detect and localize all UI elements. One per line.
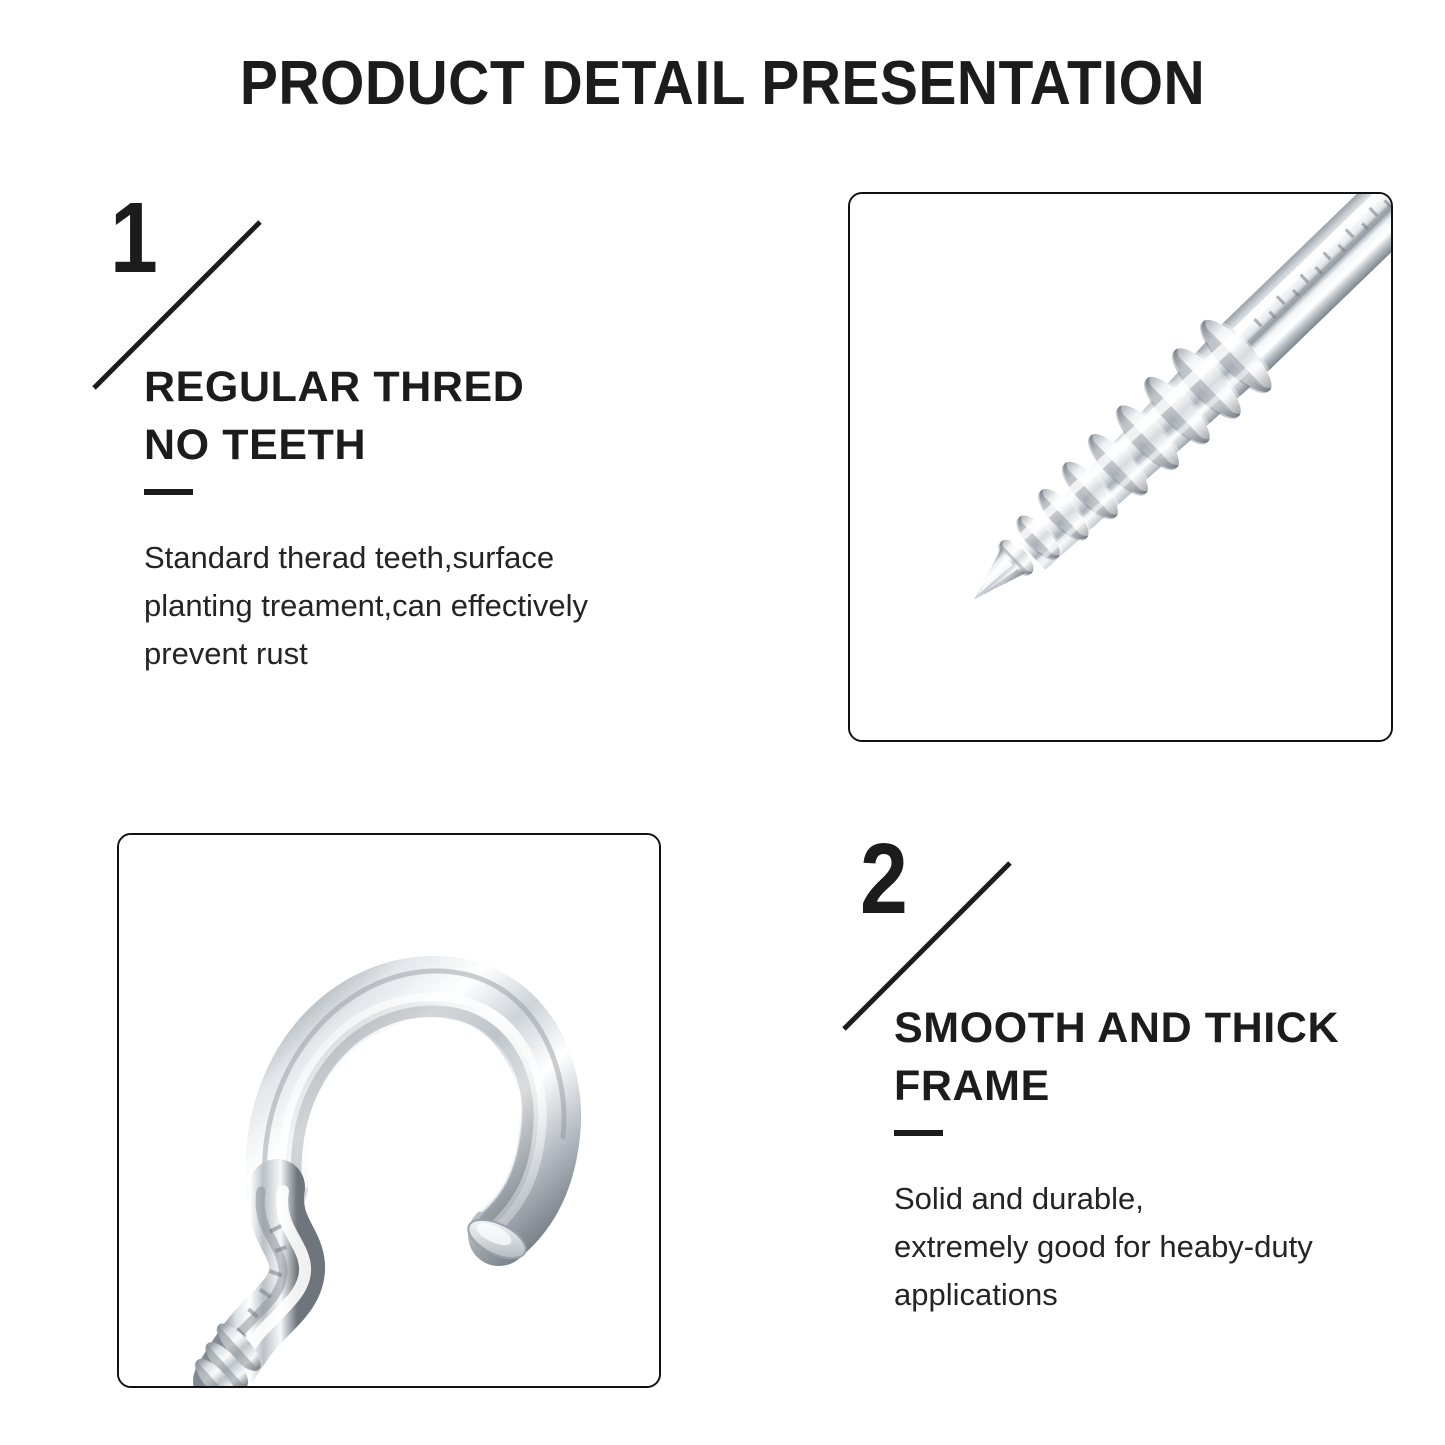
feature-2-body: Solid and durable, extremely good for he… (894, 1175, 1445, 1319)
hook-photo-frame (117, 833, 661, 1388)
cup-hook-photo (119, 835, 659, 1386)
feature-1-number: 1 (110, 188, 158, 288)
screw-thread-photo (850, 194, 1391, 740)
feature-block-1: 1 REGULAR THRED NO TEETH Standard therad… (88, 192, 708, 392)
feature-1-divider (144, 489, 193, 495)
feature-1-body: Standard therad teeth,surface planting t… (144, 534, 704, 678)
feature-1-heading: REGULAR THRED NO TEETH (144, 358, 524, 474)
feature-2-heading: SMOOTH AND THICK FRAME (894, 999, 1339, 1115)
feature-2-number: 2 (860, 829, 908, 929)
page-title: PRODUCT DETAIL PRESENTATION (58, 48, 1387, 119)
feature-block-2: 2 SMOOTH AND THICK FRAME Solid and durab… (838, 833, 1438, 1033)
screw-photo-frame (848, 192, 1393, 742)
feature-2-divider (894, 1130, 943, 1136)
